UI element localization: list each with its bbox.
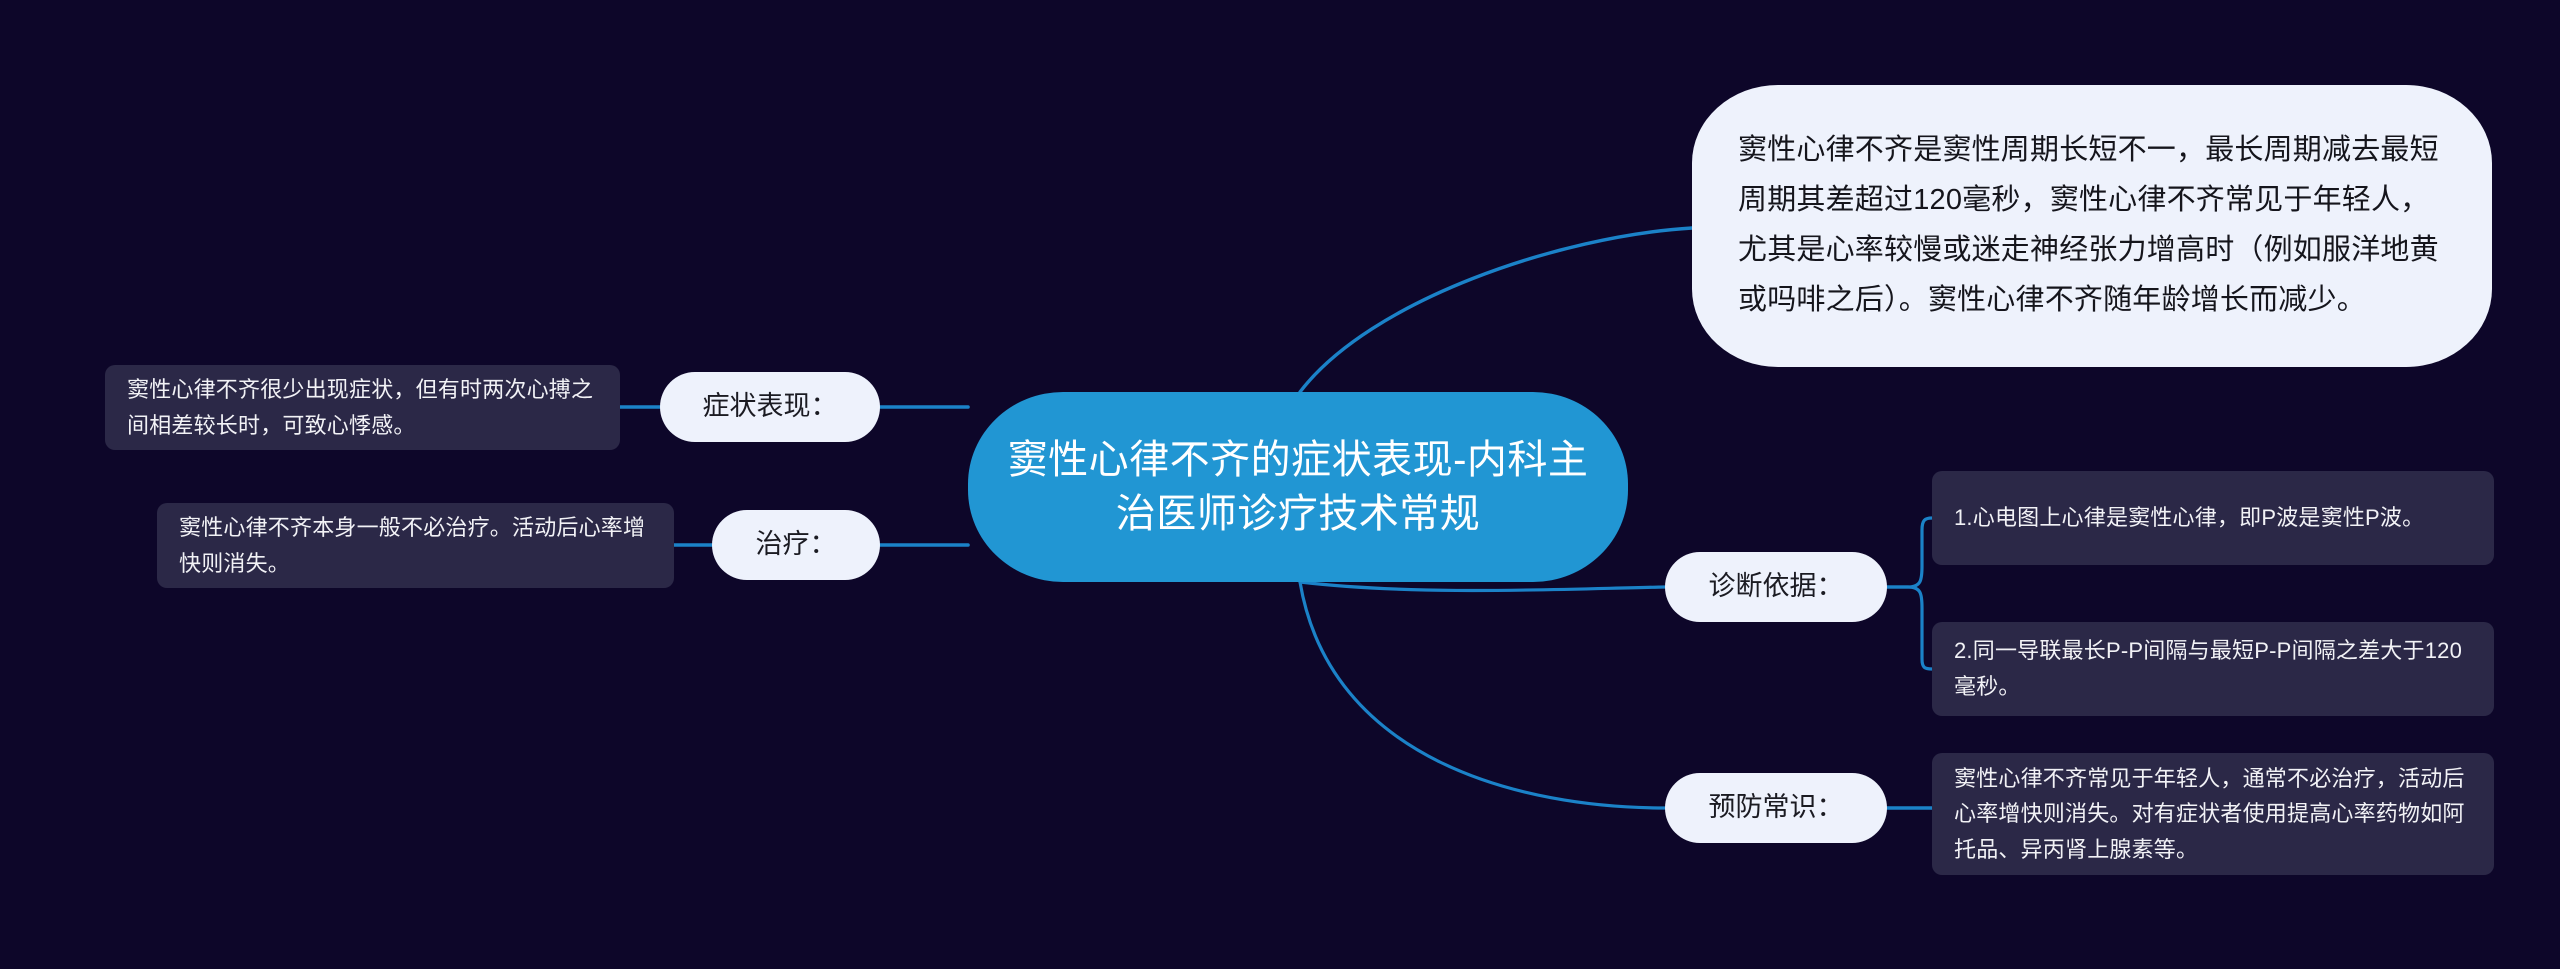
branch-symptom[interactable]: 症状表现： (660, 372, 880, 442)
diagnosis-item-1[interactable]: 1.心电图上心律是窦性心律，即P波是窦性P波。 (1932, 471, 2494, 565)
overview-card[interactable]: 窦性心律不齐是窦性周期长短不一，最长周期减去最短周期其差超过120毫秒，窦性心律… (1692, 85, 2492, 367)
branch-treatment[interactable]: 治疗： (712, 510, 880, 580)
branch-prevention[interactable]: 预防常识： (1665, 773, 1887, 843)
connector-diagnosis-item1 (1887, 518, 1932, 587)
connector-central-prevention (1300, 582, 1665, 808)
prevention-text: 窦性心律不齐常见于年轻人，通常不必治疗，活动后心率增快则消失。对有症状者使用提高… (1932, 745, 2494, 884)
branch-prevention-label: 预防常识： (1709, 791, 1844, 825)
branch-treatment-label: 治疗： (756, 528, 837, 562)
mindmap-canvas: 窦性心律不齐的症状表现-内科主治医师诊疗技术常规 窦性心律不齐是窦性周期长短不一… (0, 0, 2560, 969)
branch-symptom-label: 症状表现： (703, 390, 838, 424)
symptom-text: 窦性心律不齐很少出现症状，但有时两次心搏之间相差较长时，可致心悸感。 (105, 356, 620, 459)
central-node[interactable]: 窦性心律不齐的症状表现-内科主治医师诊疗技术常规 (968, 392, 1628, 582)
treatment-card[interactable]: 窦性心律不齐本身一般不必治疗。活动后心率增快则消失。 (157, 503, 674, 588)
connector-diagnosis-item2 (1887, 587, 1932, 669)
overview-text: 窦性心律不齐是窦性周期长短不一，最长周期减去最短周期其差超过120毫秒，窦性心律… (1692, 126, 2492, 326)
central-node-title: 窦性心律不齐的症状表现-内科主治医师诊疗技术常规 (1006, 433, 1590, 542)
symptom-card[interactable]: 窦性心律不齐很少出现症状，但有时两次心搏之间相差较长时，可致心悸感。 (105, 365, 620, 450)
treatment-text: 窦性心律不齐本身一般不必治疗。活动后心率增快则消失。 (157, 494, 674, 597)
connector-central-overview (1300, 228, 1692, 392)
diagnosis-item-2-text: 2.同一导联最长P-P间隔与最短P-P间隔之差大于120毫秒。 (1932, 617, 2494, 720)
diagnosis-item-1-text: 1.心电图上心律是窦性心律，即P波是窦性P波。 (1932, 484, 2446, 552)
connector-central-diagnosis (1300, 582, 1665, 591)
prevention-card[interactable]: 窦性心律不齐常见于年轻人，通常不必治疗，活动后心率增快则消失。对有症状者使用提高… (1932, 753, 2494, 875)
branch-diagnosis-label: 诊断依据： (1709, 570, 1844, 604)
branch-diagnosis[interactable]: 诊断依据： (1665, 552, 1887, 622)
diagnosis-item-2[interactable]: 2.同一导联最长P-P间隔与最短P-P间隔之差大于120毫秒。 (1932, 622, 2494, 716)
